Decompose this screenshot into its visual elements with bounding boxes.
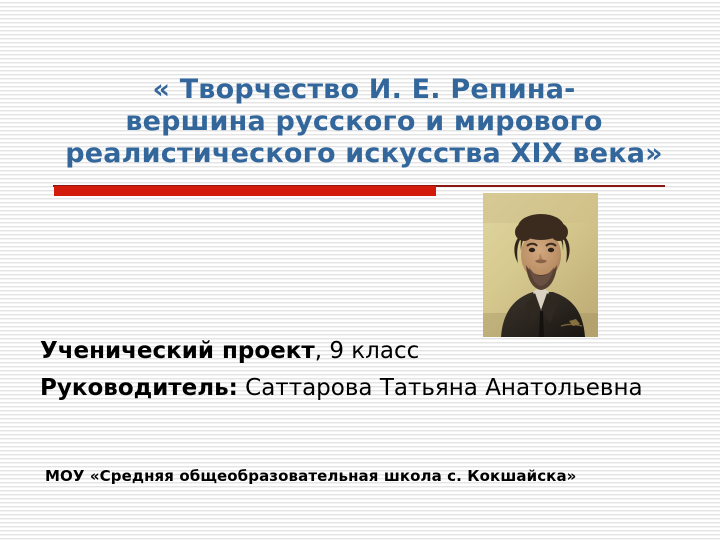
credit-value-supervisor-name: Саттарова Татьяна Анатольевна <box>238 375 643 401</box>
title-line-2: вершина русского и мирового <box>40 106 688 138</box>
credit-line-supervisor: Руководитель: Саттарова Татьяна Анатолье… <box>40 370 680 407</box>
accent-red-bar <box>54 186 436 196</box>
slide-title: « Творчество И. Е. Репина- вершина русск… <box>40 74 688 170</box>
repin-self-portrait-image <box>483 193 598 337</box>
credit-line-student-project: Ученический проект, 9 класс <box>40 333 680 370</box>
title-line-3: реалистического искусства XIX века» <box>40 138 688 170</box>
presentation-slide: « Творчество И. Е. Репина- вершина русск… <box>0 0 720 540</box>
credit-value-grade: , 9 класс <box>315 338 420 364</box>
credit-label-student-project: Ученический проект <box>40 338 315 364</box>
credit-label-supervisor: Руководитель: <box>40 375 238 401</box>
project-credits: Ученический проект, 9 класс Руководитель… <box>40 333 680 407</box>
school-name: МОУ «Средняя общеобразовательная школа с… <box>45 467 705 485</box>
title-line-1: « Творчество И. Е. Репина- <box>40 74 688 106</box>
school-footer: МОУ «Средняя общеобразовательная школа с… <box>45 467 705 485</box>
